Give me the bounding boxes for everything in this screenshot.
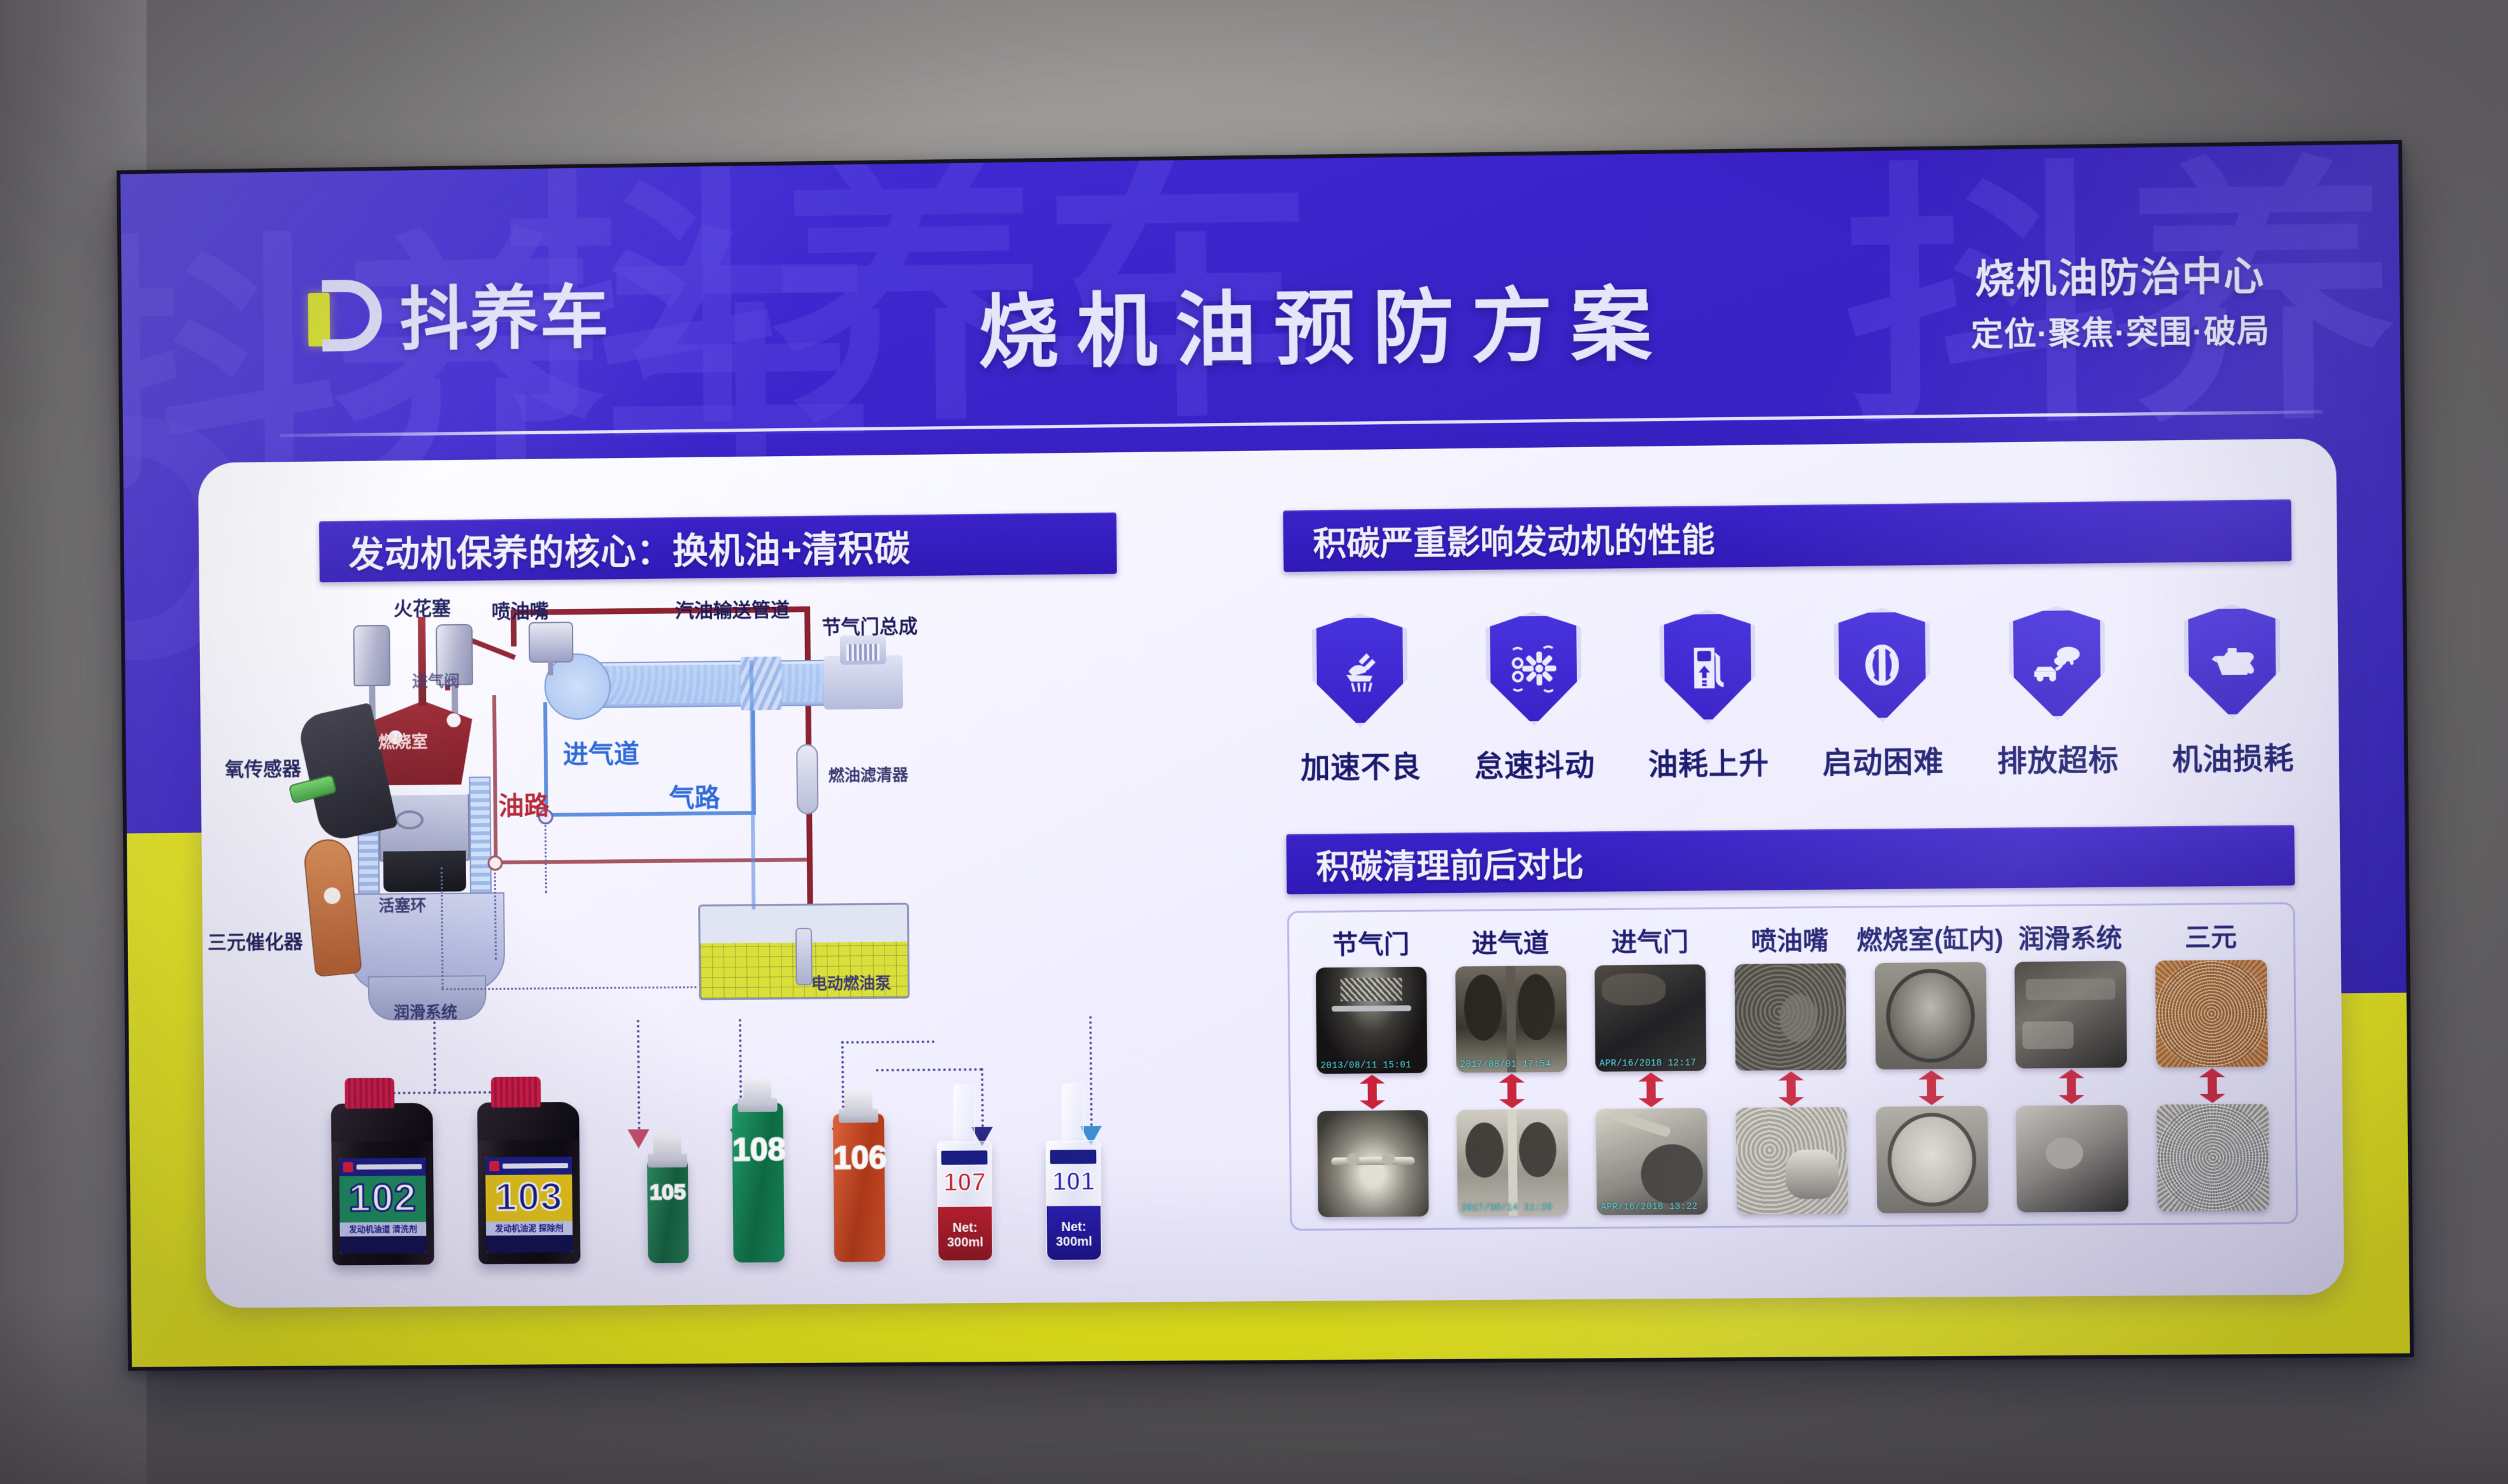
product-net-103: Net:1L <box>530 1250 567 1253</box>
label-num-area: 103 <box>485 1174 573 1222</box>
chamber-dot-2 <box>446 713 460 727</box>
label-piston-ring: 活塞环 <box>378 893 426 917</box>
label-combustion-chamber: 燃烧室 <box>378 729 428 753</box>
jug-102: 102 发动机油道 清洗剂 Net:1L <box>331 1106 434 1266</box>
symptom-emissions[interactable]: 排放超标 <box>1988 605 2126 780</box>
symptom-idle-shake[interactable]: 怠速抖动 <box>1465 611 1602 785</box>
car-exhaust-smoke-icon <box>2009 606 2105 721</box>
lightbox-sign: D 抖养车 抖养车 抖养车 抖养车 烧机油预防方案 烧机油防治中心 定位·聚焦·… <box>117 140 2414 1371</box>
can-label-106: 106 <box>833 1113 885 1176</box>
symptom-label-4: 排放超标 <box>1990 736 2126 780</box>
label-brand-strip <box>485 1157 572 1175</box>
symptom-list: 加速不良 <box>1292 604 2301 787</box>
banner-compare: 积碳清理前后对比 <box>1286 825 2295 894</box>
label-103: 103 发动机油泥 探除剂 Net:1L <box>485 1157 573 1253</box>
bottle-bottom-107: Net: 300ml <box>938 1207 992 1261</box>
stamp-before-1: 2017/08/01 17:54 <box>1460 1059 1551 1070</box>
banner-symptoms-label: 积碳严重影响发动机的性能 <box>1313 513 1715 565</box>
compare-title-2: 进气门 <box>1611 921 1689 959</box>
engine-schematic: 火花塞 喷油嘴 汽油输送管道 节气门总成 燃油滤清器 电动燃油泵 进气阀 进气道… <box>294 586 1198 1041</box>
fuel-filter <box>796 744 818 814</box>
oil-circuit-h <box>494 858 813 865</box>
brand-logo-text <box>502 1163 568 1169</box>
compare-arrow-4 <box>1918 1071 1944 1105</box>
brand-logo-icon <box>343 1162 353 1173</box>
piston-ring-top <box>379 785 469 796</box>
compare-column-intake-duct[interactable]: 进气道 2017/08/01 17:54 2017/08/14 11:20 <box>1450 922 1573 1216</box>
product-103[interactable]: 103 发动机油泥 探除剂 Net:1L <box>477 1104 580 1264</box>
intake-bellows <box>741 657 782 711</box>
compare-title-0: 节气门 <box>1332 924 1410 961</box>
bottle-bottom-101: Net: 300ml <box>1047 1206 1101 1260</box>
intake-plenum <box>544 653 611 720</box>
label-num-area: 102 <box>339 1176 426 1223</box>
oil-circuit-v <box>492 695 498 862</box>
product-code-106: 106 <box>833 1139 885 1176</box>
label-fuel-filter: 燃油滤清器 <box>829 762 909 786</box>
exhaust-valve <box>353 625 390 686</box>
bottle-101: 101 Net: 300ml <box>1046 1140 1102 1260</box>
can-108: 108 <box>732 1103 785 1263</box>
jug-cap <box>345 1078 394 1109</box>
compare-column-lubrication[interactable]: 润滑系统 <box>2010 917 2134 1213</box>
product-sub-103: 发动机油泥 探除剂 <box>486 1221 573 1236</box>
product-net-107: Net: 300ml <box>938 1221 992 1251</box>
compare-arrow-3 <box>1778 1071 1804 1106</box>
label-fuel-pump: 电动燃油泵 <box>811 971 892 994</box>
jug-cap <box>491 1076 541 1108</box>
label-lubrication-system: 润滑系统 <box>394 1000 457 1024</box>
compare-arrow-6 <box>2199 1068 2225 1102</box>
logo-d-shape <box>322 280 382 352</box>
sign-frame: D 抖养车 抖养车 抖养车 抖养车 烧机油预防方案 烧机油防治中心 定位·聚焦·… <box>117 140 2414 1371</box>
product-code-108: 108 <box>732 1131 784 1169</box>
compare-arrow-0 <box>1359 1075 1385 1109</box>
power-button-icon <box>1834 608 1930 723</box>
product-code-105: 105 <box>647 1180 688 1205</box>
sign-header: 抖养车 烧机油预防方案 烧机油防治中心 定位·聚焦·突围·破局 <box>120 144 2401 447</box>
header-divider <box>280 410 2323 437</box>
compare-column-combustion[interactable]: 燃烧室(缸内) <box>1869 918 1992 1213</box>
connecting-rod <box>383 851 466 892</box>
label-102: 102 发动机油道 清洗剂 Net:1L <box>339 1158 427 1254</box>
brand-logo-icon <box>489 1161 499 1171</box>
product-105[interactable]: 105 <box>647 1159 689 1264</box>
d-logo-icon <box>299 275 383 355</box>
cooling-jacket-right <box>469 776 492 899</box>
fuel-injector <box>529 622 574 663</box>
air-line-h <box>545 811 755 817</box>
banner-compare-label: 积碳清理前后对比 <box>1316 838 1584 888</box>
photo-before-0: 2013/08/11 15:01 <box>1316 967 1427 1074</box>
label-spark-plug: 火花塞 <box>394 592 451 621</box>
fan-vibration-icon <box>1485 611 1581 726</box>
jug-shoulder <box>331 1103 433 1142</box>
symptom-hard-start[interactable]: 启动困难 <box>1814 607 1951 781</box>
photo-after-0 <box>1317 1110 1429 1217</box>
photo-after-3 <box>1736 1107 1848 1215</box>
symptom-oil-loss[interactable]: 机油损耗 <box>2163 604 2302 779</box>
banner-symptoms: 积碳严重影响发动机的性能 <box>1283 499 2292 572</box>
electric-fuel-pump <box>795 928 813 985</box>
photo-before-6 <box>2155 960 2268 1067</box>
symptom-label-5: 机油损耗 <box>2165 735 2302 779</box>
cat-dot <box>324 887 340 904</box>
photo-before-4 <box>1874 962 1986 1070</box>
sign-face: D 抖养车 抖养车 抖养车 抖养车 烧机油预防方案 烧机油防治中心 定位·聚焦·… <box>120 144 2410 1367</box>
jug-103: 103 发动机油泥 探除剂 Net:1L <box>477 1104 580 1264</box>
banner-engine-care-label: 发动机保养的核心：换机油+清积碳 <box>348 520 911 578</box>
label-brand-strip <box>339 1158 426 1176</box>
product-arrow-bridge-b <box>841 1041 935 1044</box>
symptom-label-3: 启动困难 <box>1815 738 1951 782</box>
compare-title-5: 润滑系统 <box>2018 917 2122 955</box>
compare-column-throttle[interactable]: 节气门 2013/08/11 15:01 <box>1311 923 1433 1217</box>
compare-title-6: 三元 <box>2184 917 2237 954</box>
product-108[interactable]: 108 <box>732 1103 785 1263</box>
label-air-circuit: 气路 <box>669 777 720 815</box>
photo-before-1: 2017/08/01 17:54 <box>1455 966 1567 1073</box>
symptom-fuel-consumption[interactable]: 油耗上升 <box>1639 609 1776 783</box>
symptom-label-0: 加速不良 <box>1293 743 1429 787</box>
stamp-after-2: APR/16/2018 13:22 <box>1601 1202 1698 1213</box>
product-106[interactable]: 106 <box>833 1113 885 1262</box>
label-oxygen-sensor: 氧传感器 <box>225 753 301 781</box>
pedal-acceleration-icon <box>1312 613 1408 727</box>
symptom-acceleration[interactable]: 加速不良 <box>1292 613 1429 787</box>
photo-before-3 <box>1734 963 1846 1071</box>
jug-shoulder <box>477 1102 579 1141</box>
photo-before-5 <box>2014 961 2127 1069</box>
label-oil-circuit: 油路 <box>498 785 549 822</box>
bottle-neck <box>953 1084 975 1143</box>
stamp-after-1: 2017/08/14 11:20 <box>1461 1202 1552 1213</box>
brand-lockup: 抖养车 <box>299 262 610 365</box>
can-cap <box>844 1088 873 1116</box>
label-fuel-pipe: 汽油输送管道 <box>674 594 790 623</box>
compare-arrow-5 <box>2058 1069 2084 1104</box>
node-oil <box>487 855 502 871</box>
label-injector: 喷油嘴 <box>492 595 549 624</box>
content-card: 发动机保养的核心：换机油+清积碳 <box>198 438 2344 1308</box>
label-body: Net:1L <box>340 1236 427 1253</box>
symptom-label-2: 油耗上升 <box>1641 740 1776 783</box>
product-code-107: 107 <box>937 1168 992 1197</box>
label-body: Net:1L <box>486 1235 573 1253</box>
label-intake-duct: 进气道 <box>563 733 640 771</box>
label-throttle-assembly: 节气门总成 <box>822 610 918 639</box>
page-title: 烧机油预防方案 <box>978 259 1670 384</box>
product-code-102: 102 <box>339 1180 426 1218</box>
compare-box: 节气门 2013/08/11 15:01 进气道 <box>1287 903 2298 1231</box>
product-102[interactable]: 102 发动机油道 清洗剂 Net:1L <box>331 1106 434 1266</box>
dotted-3 <box>545 817 547 893</box>
product-net-102: Net:1L <box>384 1252 422 1254</box>
photo-after-6 <box>2156 1104 2269 1211</box>
can-105: 105 <box>647 1159 689 1264</box>
bottle-neck <box>1062 1083 1084 1143</box>
left-column: 发动机保养的核心：换机油+清积碳 <box>319 512 1168 583</box>
compare-arrow-1 <box>1499 1074 1525 1108</box>
injector-tip <box>548 661 553 675</box>
can-label-108: 108 <box>732 1103 783 1169</box>
header-right-block: 烧机油防治中心 定位·聚焦·突围·破局 <box>1970 243 2270 355</box>
product-107[interactable]: 107 Net: 300ml <box>937 1141 993 1261</box>
bottle-brand-strip <box>1050 1150 1097 1164</box>
product-sub-102: 发动机油道 清洗剂 <box>339 1222 426 1237</box>
photo-after-2: APR/16/2018 13:22 <box>1596 1108 1708 1215</box>
center-name: 烧机油防治中心 <box>1970 243 2269 305</box>
brand-name: 抖养车 <box>399 262 611 364</box>
product-net-101: Net: 300ml <box>1047 1220 1101 1250</box>
can-cap <box>743 1078 772 1106</box>
throttle-plate <box>846 644 880 661</box>
compare-title-1: 进气道 <box>1471 922 1549 960</box>
brand-logo-text <box>357 1164 422 1170</box>
center-slogan: 定位·聚焦·突围·破局 <box>1970 305 2270 355</box>
bottle-brand-strip <box>941 1150 988 1165</box>
photo-after-4 <box>1876 1106 1988 1213</box>
fuel-pump-up-icon <box>1660 610 1756 725</box>
catalytic-converter <box>303 837 362 977</box>
oil-can-drip-icon <box>2184 604 2281 719</box>
label-three-way-catalyst: 三元催化器 <box>208 926 303 955</box>
can-cap <box>653 1133 681 1161</box>
product-lineup: 102 发动机油道 清洗剂 Net:1L <box>292 1052 1188 1269</box>
compare-column-intake-valve[interactable]: 进气门 APR/16/2018 12:17 APR/16/2018 13:22 <box>1590 921 1713 1215</box>
can-106: 106 <box>833 1113 885 1262</box>
compare-arrow-2 <box>1638 1073 1664 1107</box>
photo-before-2: APR/16/2018 12:17 <box>1595 964 1707 1072</box>
photo-after-1: 2017/08/14 11:20 <box>1457 1109 1569 1216</box>
photo-after-5 <box>2016 1105 2129 1213</box>
compare-column-catalyst[interactable]: 三元 <box>2150 916 2274 1211</box>
right-column: 积碳严重影响发动机的性能 <box>1283 499 2292 572</box>
compare-title-3: 喷油嘴 <box>1751 920 1828 957</box>
spark-plug <box>418 617 426 706</box>
product-code-101: 101 <box>1046 1167 1101 1197</box>
bottle-107: 107 Net: 300ml <box>937 1141 993 1261</box>
symptom-label-1: 怠速抖动 <box>1467 741 1602 785</box>
compare-column-injector[interactable]: 喷油嘴 <box>1730 920 1853 1215</box>
banner-engine-care: 发动机保养的核心：换机油+清积碳 <box>319 513 1117 583</box>
product-101[interactable]: 101 Net: 300ml <box>1046 1140 1102 1260</box>
product-code-103: 103 <box>485 1178 572 1216</box>
label-intake-valve: 进气阀 <box>412 669 460 692</box>
stamp-before-2: APR/16/2018 12:17 <box>1599 1059 1696 1069</box>
compare-grid: 节气门 2013/08/11 15:01 进气道 <box>1311 916 2274 1217</box>
compare-title-4: 燃烧室(缸内) <box>1856 918 2004 957</box>
stamp-before-0: 2013/08/11 15:01 <box>1321 1060 1412 1071</box>
